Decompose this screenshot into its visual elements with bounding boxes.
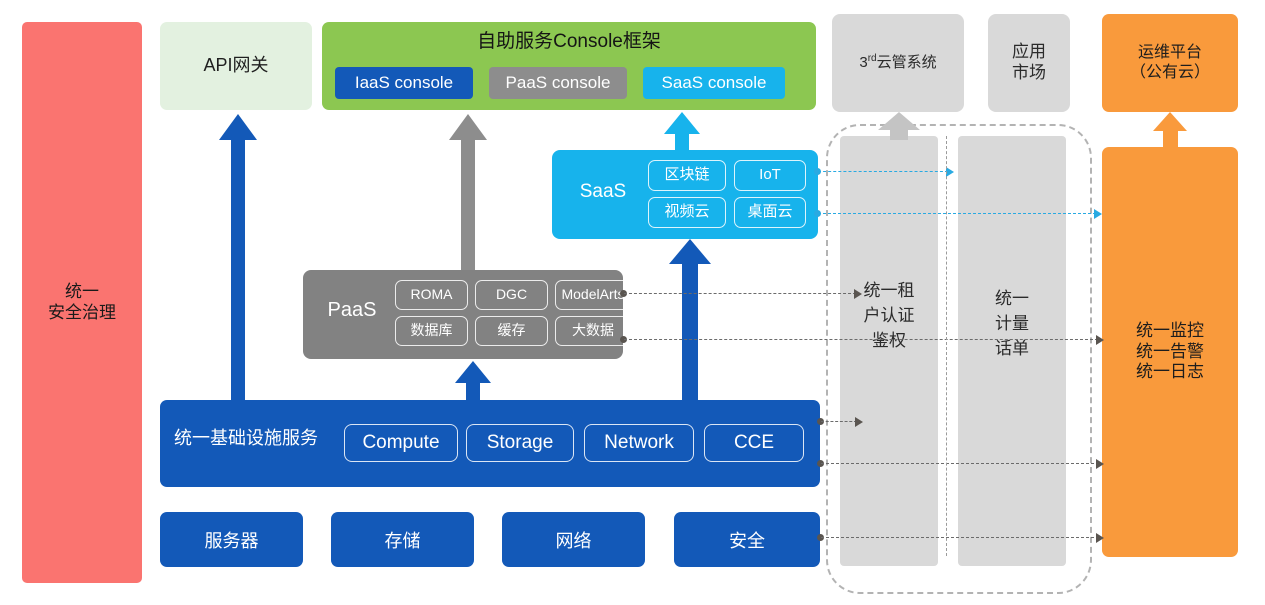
connector-infra-to-auth [821, 421, 857, 422]
saas-item-desktop-cloud-label: 桌面云 [747, 203, 792, 221]
saas-block: SaaS 区块链 IoT 视频云 桌面云 [552, 150, 818, 239]
connector-arrowhead-infra-to-auth [855, 417, 863, 427]
paas-item-database-label: 数据库 [411, 322, 453, 339]
saas-label: SaaS [566, 180, 640, 203]
paas-item-bigdata[interactable]: 大数据 [555, 316, 631, 346]
unified-infrastructure-label: 统一基础设施服务 [174, 428, 318, 450]
metering-line-3: 话单 [995, 334, 1029, 359]
unified-monitoring-line-3: 统一日志 [1136, 362, 1204, 383]
infra-item-network[interactable]: Network [584, 424, 694, 462]
paas-item-cache-label: 缓存 [498, 322, 526, 339]
paas-item-dgc-label: DGC [496, 286, 527, 303]
connector-arrowhead-resources-to-ops [1096, 533, 1104, 543]
resource-box-security[interactable]: 安全 [674, 512, 820, 567]
third-party-cloud-management-box: 3rd云管系统 [832, 14, 964, 112]
app-market-box: 应用 市场 [988, 14, 1070, 112]
resource-box-storage-label: 存储 [385, 527, 421, 553]
paas-item-modelarts-label: ModelArts [561, 286, 624, 303]
metering-line-2: 计量 [995, 309, 1029, 334]
unified-metering-label: 统一 计量 话单 [995, 284, 1029, 359]
resource-box-network[interactable]: 网络 [502, 512, 645, 567]
tenant-auth-line-2: 户认证 [864, 301, 915, 326]
paas-label: PaaS [313, 298, 391, 322]
ops-platform-line-1: 运维平台 [1130, 43, 1210, 63]
saas-item-video-cloud[interactable]: 视频云 [648, 197, 726, 228]
iaas-console-chip[interactable]: IaaS console [335, 67, 473, 99]
paas-console-chip[interactable]: PaaS console [489, 67, 627, 99]
saas-item-desktop-cloud[interactable]: 桌面云 [734, 197, 806, 228]
resource-box-network-label: 网络 [556, 527, 592, 553]
infra-item-cce-label: CCE [734, 431, 774, 454]
unified-infrastructure-services-block: 统一基础设施服务 Compute Storage Network CCE [160, 400, 820, 487]
infra-item-storage-label: Storage [487, 431, 554, 454]
paas-item-cache[interactable]: 缓存 [475, 316, 548, 346]
connector-vertical-divider [946, 136, 947, 556]
resource-box-server[interactable]: 服务器 [160, 512, 303, 567]
connector-arrowhead-saas-to-auth [946, 167, 954, 177]
ops-platform-public-cloud-box: 运维平台 （公有云） [1102, 14, 1238, 112]
paas-item-database[interactable]: 数据库 [395, 316, 468, 346]
app-market-label: 应用 市场 [1012, 42, 1046, 83]
iaas-console-label: IaaS console [355, 73, 453, 94]
saas-item-blockchain[interactable]: 区块链 [648, 160, 726, 191]
resource-box-security-label: 安全 [729, 527, 765, 553]
saas-item-iot-label: IoT [759, 166, 781, 184]
connector-arrowhead-infra-to-ops [1096, 459, 1104, 469]
security-label-line-2: 安全治理 [48, 303, 116, 324]
infra-item-compute-label: Compute [362, 431, 439, 454]
saas-console-chip[interactable]: SaaS console [643, 67, 785, 99]
resource-box-server-label: 服务器 [205, 527, 259, 553]
connector-infra-to-ops [821, 463, 1099, 464]
tenant-auth-line-1: 统一租 [864, 276, 915, 301]
app-market-line-1: 应用 [1012, 42, 1046, 63]
infra-item-cce[interactable]: CCE [704, 424, 804, 462]
infra-item-compute[interactable]: Compute [344, 424, 458, 462]
connector-arrowhead-saas-to-ops [1094, 209, 1102, 219]
paas-item-roma-label: ROMA [411, 286, 453, 303]
paas-block: PaaS ROMA DGC ModelArts 数据库 缓存 大数据 [303, 270, 623, 359]
unified-metering-billing-column: 统一 计量 话单 [958, 136, 1066, 566]
unified-monitoring-panel: 统一监控 统一告警 统一日志 [1102, 147, 1238, 557]
third-party-superscript: rd [868, 53, 877, 64]
saas-item-video-cloud-label: 视频云 [664, 203, 709, 221]
connector-arrowhead-paas-to-ops [1096, 335, 1104, 345]
self-service-console-frame: 自助服务Console框架 IaaS console PaaS console … [322, 22, 816, 110]
resource-box-storage[interactable]: 存储 [331, 512, 474, 567]
ops-platform-line-2: （公有云） [1130, 63, 1210, 83]
unified-security-governance-panel: 统一 安全治理 [22, 22, 142, 583]
third-party-suffix: 云管系统 [877, 54, 937, 71]
console-frame-title: 自助服务Console框架 [322, 30, 816, 53]
ops-platform-label: 运维平台 （公有云） [1130, 43, 1210, 82]
api-gateway-label: API网关 [203, 55, 268, 77]
app-market-line-2: 市场 [1012, 63, 1046, 84]
connector-paas-to-auth [624, 293, 856, 294]
security-label-line-1: 统一 [48, 282, 116, 303]
security-panel-label: 统一 安全治理 [48, 282, 116, 323]
paas-item-roma[interactable]: ROMA [395, 280, 468, 310]
connector-resources-to-ops [821, 537, 1099, 538]
api-gateway-box: API网关 [160, 22, 312, 110]
connector-arrowhead-paas-to-auth [854, 289, 862, 299]
saas-item-blockchain-label: 区块链 [664, 166, 709, 184]
unified-monitoring-line-2: 统一告警 [1136, 342, 1204, 363]
unified-monitoring-line-1: 统一监控 [1136, 321, 1204, 342]
third-party-cloud-management-label: 3rd云管系统 [859, 53, 936, 72]
architecture-diagram: 统一 安全治理 API网关 自助服务Console框架 IaaS console… [0, 0, 1265, 605]
connector-saas-to-ops [818, 213, 1096, 214]
unified-monitoring-label: 统一监控 统一告警 统一日志 [1136, 321, 1204, 383]
saas-item-iot[interactable]: IoT [734, 160, 806, 191]
paas-item-dgc[interactable]: DGC [475, 280, 548, 310]
paas-console-label: PaaS console [506, 73, 611, 94]
unified-tenant-auth-column: 统一租 户认证 鉴权 [840, 136, 938, 566]
infra-item-storage[interactable]: Storage [466, 424, 574, 462]
infra-item-network-label: Network [604, 431, 674, 454]
saas-console-label: SaaS console [662, 73, 767, 94]
metering-line-1: 统一 [995, 284, 1029, 309]
paas-item-bigdata-label: 大数据 [572, 322, 614, 339]
connector-saas-to-auth [818, 171, 948, 172]
connector-paas-to-ops [624, 339, 1098, 340]
third-party-prefix: 3 [859, 54, 867, 71]
